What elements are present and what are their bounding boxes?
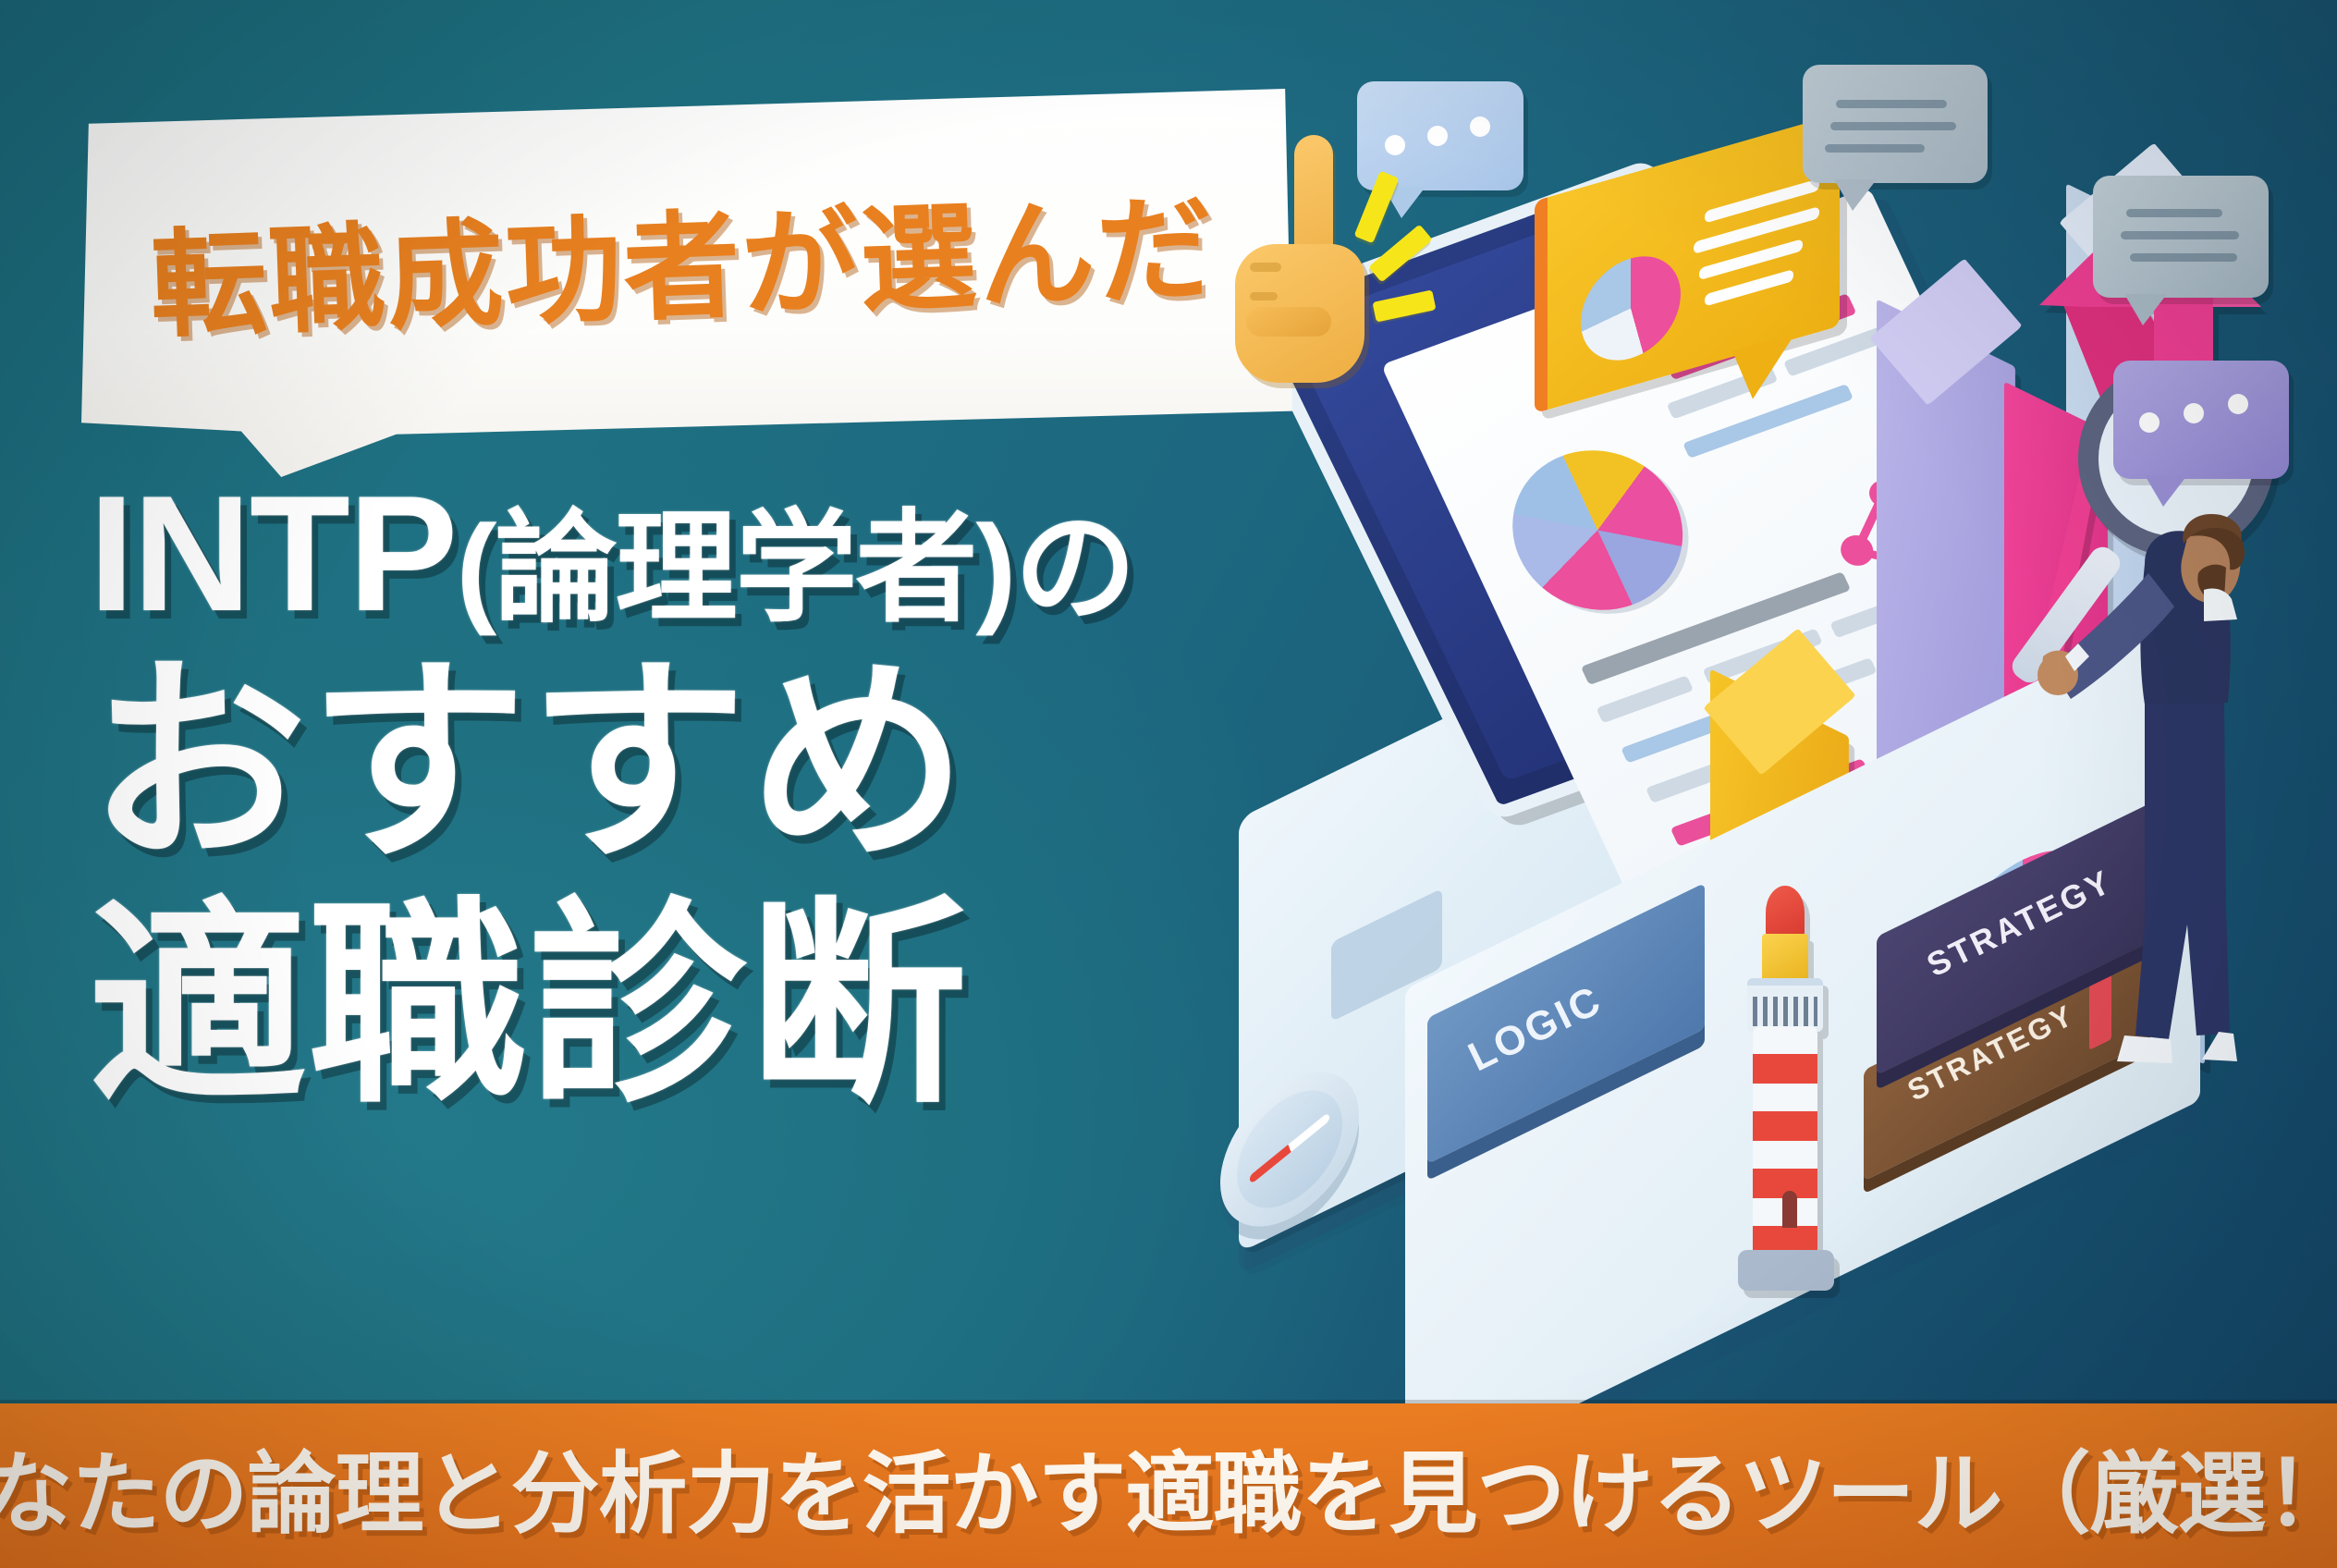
bottom-tagline-text: あなたの論理と分析力を活かす適職を見つけるツール（厳選！） bbox=[0, 1422, 2337, 1550]
headline-group: INTP(論理学者)の おすすめ 適職診断 bbox=[89, 472, 1401, 1115]
pie-chart-icon bbox=[1486, 427, 1710, 632]
headline-line-2: おすすめ bbox=[89, 655, 1401, 873]
book-logic-label: LOGIC bbox=[1462, 977, 1610, 1082]
yellow-info-card-icon bbox=[1535, 114, 1840, 414]
lighthouse-icon bbox=[1725, 886, 1845, 1292]
headline-line-3: 適職診断 bbox=[89, 897, 1401, 1115]
chat-bubble-icon bbox=[2093, 176, 2269, 298]
chat-bubble-icon bbox=[1803, 65, 1988, 183]
bottom-tagline-bar: あなたの論理と分析力を活かす適職を見つけるツール（厳選！） bbox=[0, 1403, 2337, 1568]
banner-canvas: LOGIC STRATEGY STRATEGY bbox=[0, 0, 2337, 1568]
headline-type-code: INTP bbox=[89, 461, 456, 645]
callout-bubble: 転職成功者が選んだ bbox=[81, 89, 1292, 477]
businessman-figure bbox=[2006, 425, 2311, 1091]
pointing-up-hand-icon bbox=[1228, 135, 1403, 403]
headline-line-1: INTP(論理学者)の bbox=[89, 472, 1401, 636]
headline-type-name: (論理学者) bbox=[456, 500, 1014, 636]
headline-particle: の bbox=[1014, 500, 1134, 636]
